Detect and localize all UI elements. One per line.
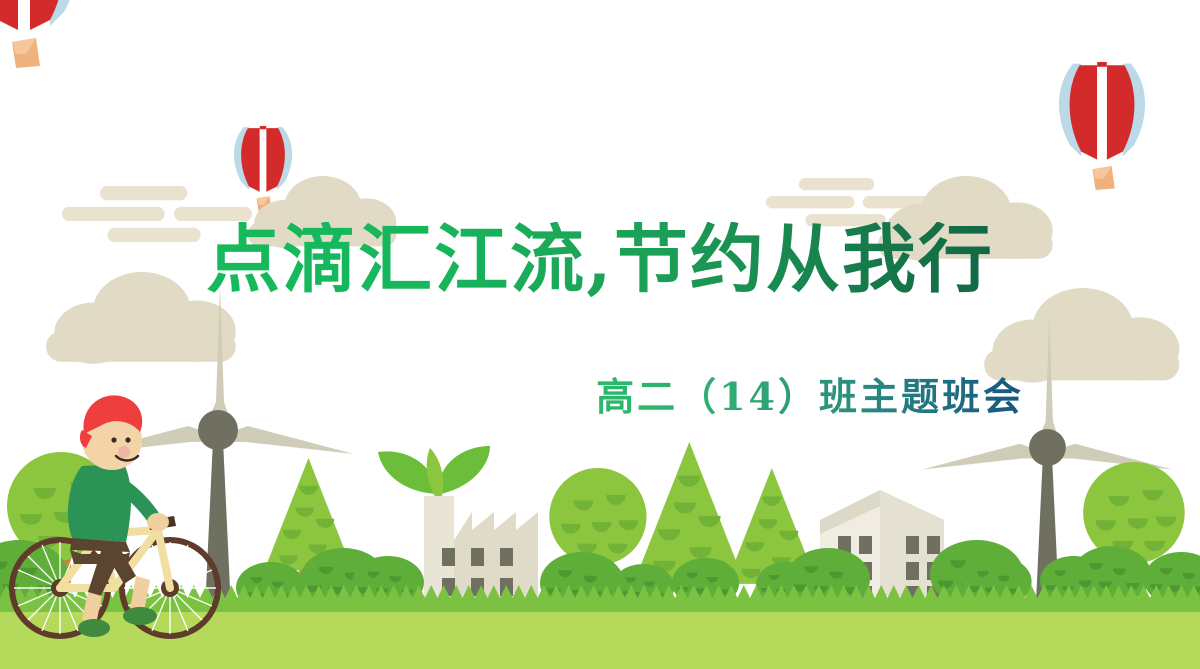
hot-air-balloon-mid-left bbox=[234, 126, 292, 212]
scene-illustration bbox=[0, 0, 1200, 669]
cloud-puff-right bbox=[878, 176, 1053, 261]
cloud-puff-left bbox=[46, 272, 236, 364]
cloud-bar-left bbox=[62, 186, 252, 242]
hot-air-balloon-top-left bbox=[0, 0, 78, 68]
slide-canvas: 点滴汇江流,节约从我行 高二（14）班主题班会 bbox=[0, 0, 1200, 669]
cloud-puff-far-right bbox=[984, 288, 1179, 383]
hot-air-balloon-top-right bbox=[1059, 62, 1145, 190]
factory-sprout-leaves bbox=[378, 446, 490, 500]
